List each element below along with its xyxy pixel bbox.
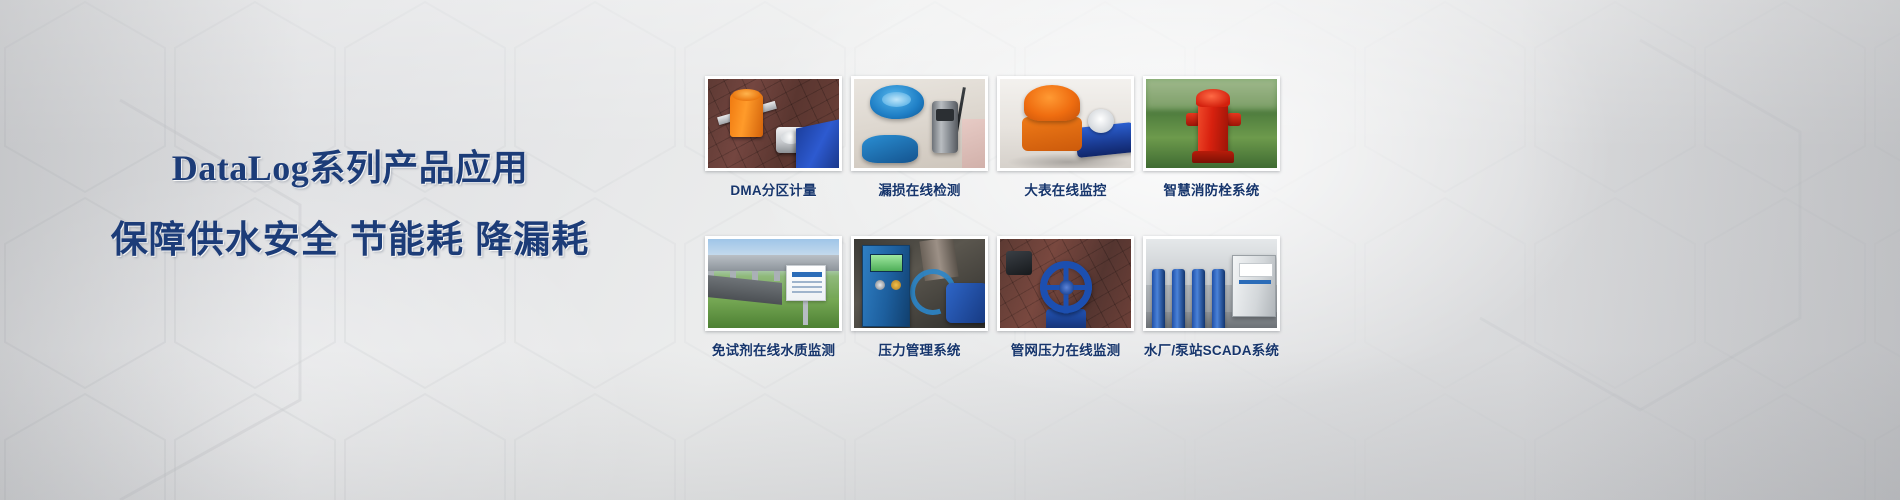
product-card-smart-fire-hydrant[interactable]: 智慧消防栓系统 bbox=[1143, 76, 1280, 199]
product-banner: DataLog系列产品应用 保障供水安全 节能耗 降漏耗 DMA分区计量 bbox=[0, 0, 1900, 500]
dma-zone-metering-photo[interactable] bbox=[705, 76, 842, 171]
product-card-caption: 大表在线监控 bbox=[997, 179, 1134, 199]
product-card-pipeline-pressure-monitoring[interactable]: 管网压力在线监测 bbox=[997, 236, 1134, 359]
headline-line-2: 保障供水安全 节能耗 降漏耗 bbox=[0, 217, 700, 263]
large-meter-monitoring-photo[interactable] bbox=[997, 76, 1134, 171]
product-card-caption: 管网压力在线监测 bbox=[997, 339, 1134, 359]
headline-block: DataLog系列产品应用 保障供水安全 节能耗 降漏耗 bbox=[0, 146, 700, 263]
product-card-dma-zone-metering[interactable]: DMA分区计量 bbox=[705, 76, 842, 199]
smart-fire-hydrant-photo[interactable] bbox=[1143, 76, 1280, 171]
product-card-caption: 免试剂在线水质监测 bbox=[705, 339, 842, 359]
product-card-caption: 智慧消防栓系统 bbox=[1143, 179, 1280, 199]
product-card-caption: 水厂/泵站SCADA系统 bbox=[1143, 339, 1280, 359]
product-card-leak-online-detection[interactable]: 漏损在线检测 bbox=[851, 76, 988, 199]
pressure-management-photo[interactable] bbox=[851, 236, 988, 331]
waterworks-scada-photo[interactable] bbox=[1143, 236, 1280, 331]
product-card-row: DMA分区计量 漏损在线检测 bbox=[705, 76, 1280, 199]
product-card-large-meter-monitoring[interactable]: 大表在线监控 bbox=[997, 76, 1134, 199]
product-card-row: 免试剂在线水质监测 压力管理系统 bbox=[705, 236, 1280, 359]
product-card-waterworks-scada[interactable]: 水厂/泵站SCADA系统 bbox=[1143, 236, 1280, 359]
product-card-caption: 压力管理系统 bbox=[851, 339, 988, 359]
leak-online-detection-photo[interactable] bbox=[851, 76, 988, 171]
product-card-pressure-management[interactable]: 压力管理系统 bbox=[851, 236, 988, 359]
reagent-free-water-quality-photo[interactable] bbox=[705, 236, 842, 331]
product-card-caption: 漏损在线检测 bbox=[851, 179, 988, 199]
product-card-reagent-free-water-quality[interactable]: 免试剂在线水质监测 bbox=[705, 236, 842, 359]
headline-line-1: DataLog系列产品应用 bbox=[0, 146, 700, 191]
pipeline-pressure-monitoring-photo[interactable] bbox=[997, 236, 1134, 331]
product-card-caption: DMA分区计量 bbox=[705, 179, 842, 199]
product-card-grid: DMA分区计量 漏损在线检测 bbox=[705, 76, 1280, 365]
